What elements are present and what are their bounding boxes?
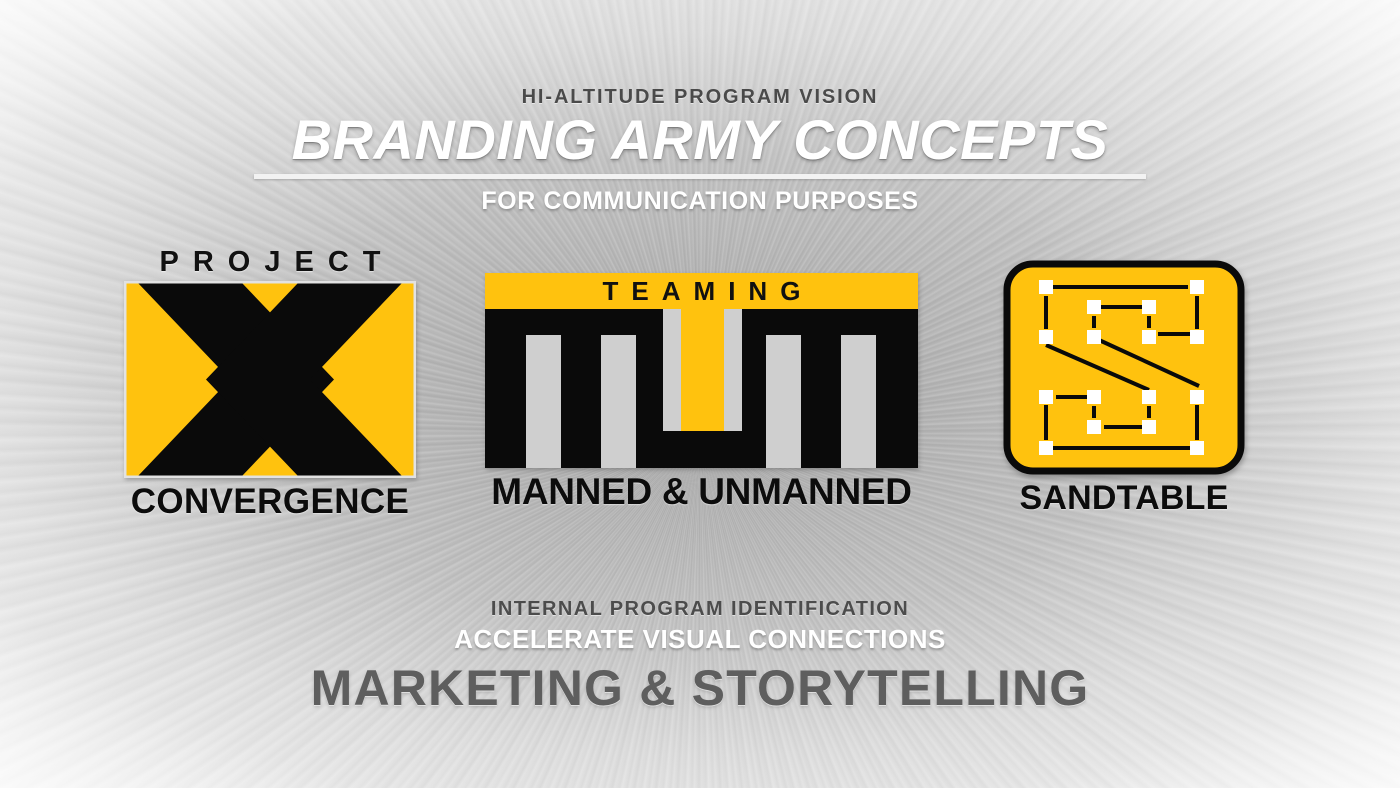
s-node-network-icon bbox=[1003, 260, 1245, 475]
footer-subtitle: ACCELERATE VISUAL CONNECTIONS bbox=[0, 624, 1400, 655]
page-title: BRANDING ARMY CONCEPTS bbox=[0, 111, 1400, 168]
title-underline-rule bbox=[254, 174, 1146, 179]
header-subtitle: FOR COMMUNICATION PURPOSES bbox=[0, 187, 1400, 216]
header-block: HI-ALTITUDE PROGRAM VISION BRANDING ARMY… bbox=[0, 86, 1400, 216]
slide-canvas: HI-ALTITUDE PROGRAM VISION BRANDING ARMY… bbox=[0, 0, 1400, 788]
logo-project-convergence-top-label: PROJECT bbox=[110, 245, 430, 279]
logo-sandtable[interactable]: SANDTABLE bbox=[1000, 260, 1248, 518]
header-kicker: HI-ALTITUDE PROGRAM VISION bbox=[0, 86, 1400, 109]
logo-mum-t-top-label: TEAMING bbox=[483, 276, 920, 307]
footer-block: INTERNAL PROGRAM IDENTIFICATION ACCELERA… bbox=[0, 598, 1400, 717]
logo-project-convergence[interactable]: PROJECT CONVERGENCE bbox=[110, 245, 430, 522]
logo-sandtable-bottom-label: SANDTABLE bbox=[1000, 479, 1248, 518]
footer-kicker: INTERNAL PROGRAM IDENTIFICATION bbox=[0, 598, 1400, 621]
footer-headline: MARKETING & STORYTELLING bbox=[0, 659, 1400, 717]
x-chevron-icon bbox=[124, 281, 416, 478]
logo-mum-t-bottom-label: MANNED & UNMANNED bbox=[483, 471, 920, 513]
logo-row: PROJECT CONVERGENCE bbox=[0, 245, 1400, 535]
mumt-block-icon: TEAMING bbox=[483, 273, 920, 468]
logo-mum-t[interactable]: TEAMING MANNED & UNMANNED bbox=[483, 273, 920, 513]
logo-project-convergence-bottom-label: CONVERGENCE bbox=[110, 482, 430, 522]
